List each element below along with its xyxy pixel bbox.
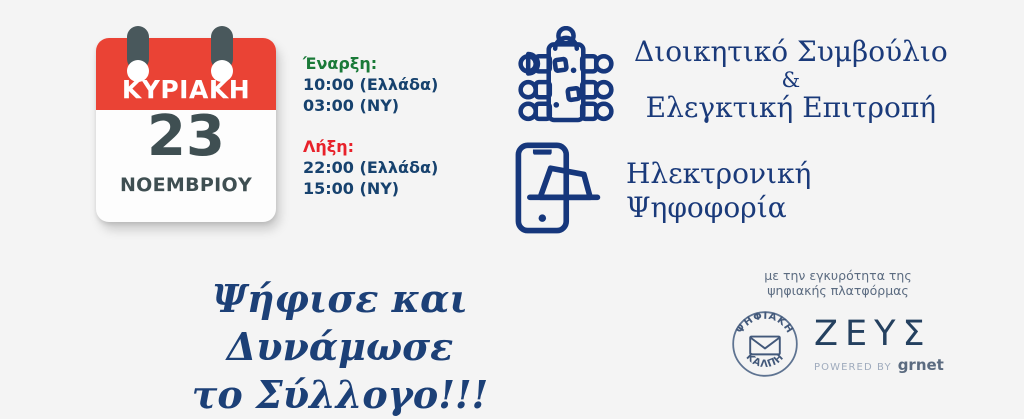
grnet-brand: grnet bbox=[898, 356, 944, 374]
evoting-line-2: Ψηφοφορία bbox=[626, 191, 811, 225]
board-line-2: Ελεγκτική Επιτροπή bbox=[634, 91, 948, 125]
evoting-row-text: Ηλεκτρονική Ψηφοφορία bbox=[626, 157, 811, 225]
calendar-day-number: 23 bbox=[96, 106, 276, 168]
calendar-month-name: ΝΟΕΜΒΡΙΟΥ bbox=[96, 174, 276, 196]
powered-by-label: POWERED BY bbox=[814, 362, 892, 373]
slogan-line-1: Ψήφισε και Δυνάμωσε bbox=[212, 276, 468, 369]
calendar-header: ΚΥΡΙΑΚΗ bbox=[96, 38, 276, 110]
end-time-ny: 15:00 (ΝΥ) bbox=[303, 178, 473, 199]
evoting-line-1: Ηλεκτρονική bbox=[626, 157, 811, 191]
end-time-label: Λήξη: bbox=[303, 136, 473, 157]
slogan-line-2: το Σύλλογο!!! bbox=[110, 371, 570, 419]
board-row: Διοικητικό Συμβούλιο & Ελεγκτική Επιτροπ… bbox=[512, 26, 948, 134]
seal-top-text: ΨΗΦΙΑΚΗ bbox=[735, 311, 796, 336]
end-time-group: Λήξη: 22:00 (Ελλάδα) 15:00 (ΝΥ) bbox=[303, 136, 473, 199]
mobile-ballot-icon bbox=[508, 137, 612, 245]
svg-text:ΨΗΦΙΑΚΗ: ΨΗΦΙΑΚΗ bbox=[735, 311, 796, 336]
zeus-wordmark: ΖΕΥΣ bbox=[814, 315, 944, 353]
evoting-row: Ηλεκτρονική Ψηφοφορία bbox=[508, 137, 811, 245]
zeus-wordmark-block: ΖΕΥΣ POWERED BY grnet bbox=[814, 315, 944, 374]
digital-ballot-seal: ΨΗΦΙΑΚΗ ΚΑΛΠΗ bbox=[728, 307, 802, 381]
zeus-platform-block: με την εγκυρότητα της ψηφιακής πλατφόρμα… bbox=[728, 268, 948, 381]
zeus-powered-by: POWERED BY grnet bbox=[814, 356, 944, 374]
start-time-group: Έναρξη: 10:00 (Ελλάδα) 03:00 (ΝΥ) bbox=[303, 53, 473, 116]
boardroom-meeting-icon bbox=[512, 26, 620, 134]
zeus-logo-lockup: ΨΗΦΙΑΚΗ ΚΑΛΠΗ ΖΕΥΣ POWERED BY grnet bbox=[728, 307, 948, 381]
calendar-ring-hole-left bbox=[127, 60, 149, 82]
zeus-tagline-line-2: ψηφιακής πλατφόρμας bbox=[728, 283, 948, 298]
envelope-icon bbox=[750, 337, 780, 355]
start-time-greece: 10:00 (Ελλάδα) bbox=[303, 74, 473, 95]
zeus-tagline: με την εγκυρότητα της ψηφιακής πλατφόρμα… bbox=[728, 268, 948, 298]
start-time-ny: 03:00 (ΝΥ) bbox=[303, 95, 473, 116]
board-ampersand: & bbox=[634, 69, 948, 91]
calendar-ring-hole-right bbox=[211, 60, 233, 82]
calendar-graphic: ΚΥΡΙΑΚΗ 23 ΝΟΕΜΒΡΙΟΥ bbox=[96, 38, 280, 228]
board-line-1: Διοικητικό Συμβούλιο bbox=[634, 35, 948, 69]
end-time-greece: 22:00 (Ελλάδα) bbox=[303, 157, 473, 178]
schedule-times: Έναρξη: 10:00 (Ελλάδα) 03:00 (ΝΥ) Λήξη: … bbox=[303, 53, 473, 219]
calendar-body: ΚΥΡΙΑΚΗ 23 ΝΟΕΜΒΡΙΟΥ bbox=[96, 38, 276, 222]
election-announcement-banner: ΚΥΡΙΑΚΗ 23 ΝΟΕΜΒΡΙΟΥ Έναρξη: 10:00 (Ελλά… bbox=[0, 0, 1024, 418]
slogan: Ψήφισε και Δυνάμωσε το Σύλλογο!!! bbox=[110, 275, 570, 419]
board-row-text: Διοικητικό Συμβούλιο & Ελεγκτική Επιτροπ… bbox=[634, 35, 948, 125]
zeus-tagline-line-1: με την εγκυρότητα της bbox=[728, 268, 948, 283]
start-time-label: Έναρξη: bbox=[303, 53, 473, 74]
